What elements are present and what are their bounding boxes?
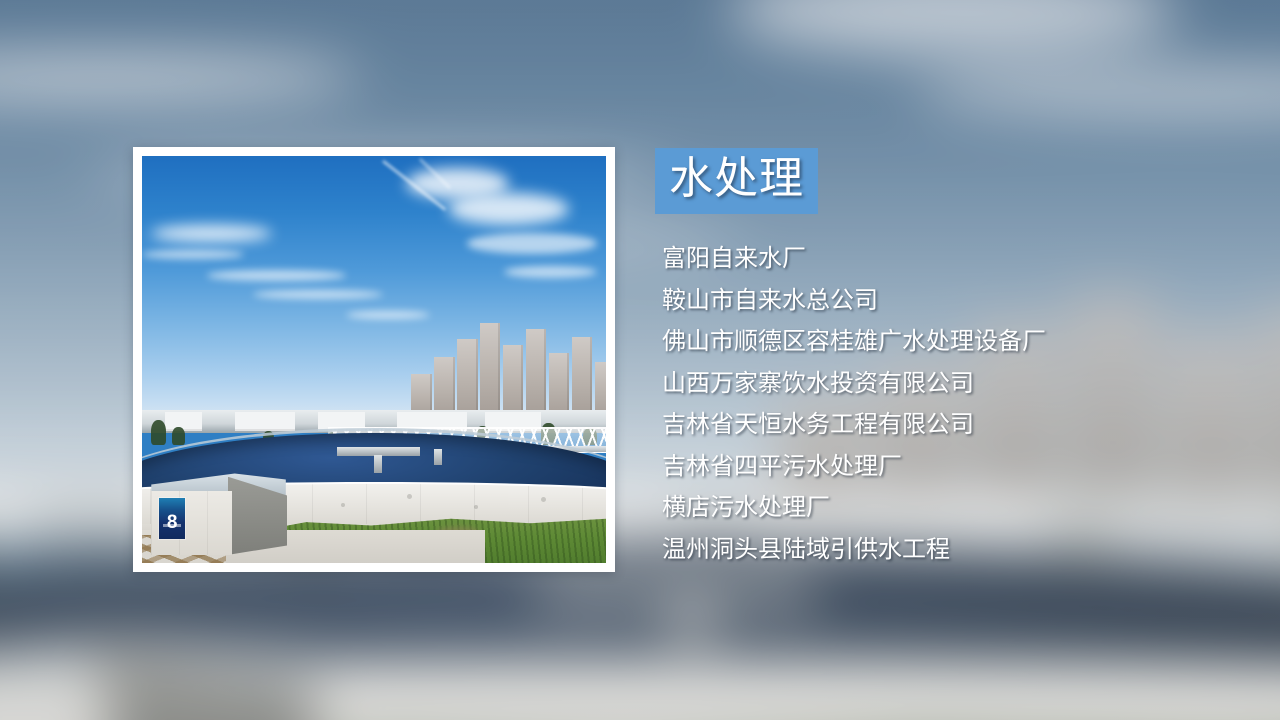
list-item: 佛山市顺德区容桂雄广水处理设备厂 bbox=[662, 321, 1222, 363]
photo-frame: 8 bbox=[133, 147, 615, 572]
photo-concrete-hut: 8 bbox=[151, 473, 286, 554]
list-item: 鞍山市自来水总公司 bbox=[662, 280, 1222, 322]
photo-plant-sign: 8 bbox=[159, 498, 185, 539]
photo-skyline bbox=[411, 319, 606, 421]
sign-subtitle-bar bbox=[163, 524, 181, 527]
customer-list: 富阳自来水厂 鞍山市自来水总公司 佛山市顺德区容桂雄广水处理设备厂 山西万家寨饮… bbox=[662, 238, 1222, 570]
photo-sign-number: 8 bbox=[159, 512, 185, 534]
scene-foreground: 8 bbox=[142, 156, 606, 563]
list-item: 富阳自来水厂 bbox=[662, 238, 1222, 280]
page-title: 水处理 bbox=[669, 152, 804, 206]
title-highlight-box: 水处理 bbox=[655, 148, 818, 214]
slide-root: 8 bbox=[0, 0, 1280, 720]
water-treatment-plant-photo: 8 bbox=[142, 156, 606, 563]
list-item: 横店污水处理厂 bbox=[662, 487, 1222, 529]
list-item: 山西万家寨饮水投资有限公司 bbox=[662, 363, 1222, 405]
list-item: 吉林省天恒水务工程有限公司 bbox=[662, 404, 1222, 446]
list-item: 温州洞头县陆域引供水工程 bbox=[662, 529, 1222, 571]
list-item: 吉林省四平污水处理厂 bbox=[662, 446, 1222, 488]
